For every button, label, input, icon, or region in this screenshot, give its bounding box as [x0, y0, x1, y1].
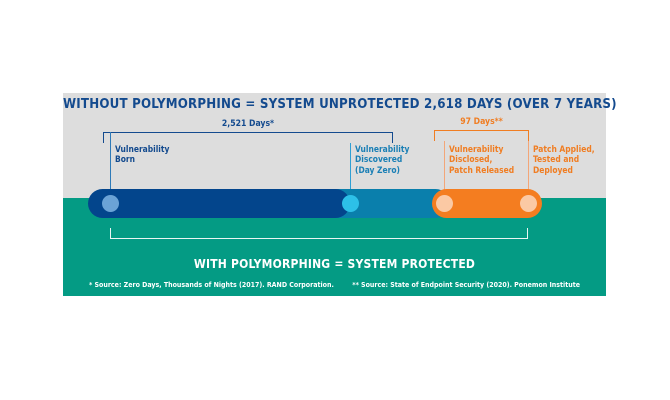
bracket-97-days	[434, 130, 529, 141]
headline-unprotected: WITHOUT POLYMORPHING = SYSTEM UNPROTECTE…	[63, 97, 606, 112]
node-line-3: Patch Released	[449, 165, 514, 175]
milestone-dot-patch-applied	[520, 195, 537, 212]
node-line-3: (Day Zero)	[355, 165, 409, 175]
node-label-vulnerability-discovered: Vulnerability Discovered (Day Zero)	[355, 144, 409, 175]
infographic-canvas: WITHOUT POLYMORPHING = SYSTEM UNPROTECTE…	[0, 0, 670, 400]
milestone-dot-vulnerability-disclosed	[436, 195, 453, 212]
node-line-2: Disclosed,	[449, 154, 514, 164]
bracket-label-97-days: 97 Days**	[434, 117, 529, 127]
source-1: * Source: Zero Days, Thousands of Nights…	[89, 281, 334, 289]
node-label-patch-applied: Patch Applied, Tested and Deployed	[533, 144, 595, 175]
milestone-dot-vulnerability-discovered	[342, 195, 359, 212]
bracket-2521-days	[103, 132, 393, 143]
milestone-dot-vulnerability-born	[102, 195, 119, 212]
bracket-protected-span	[110, 228, 528, 239]
node-label-vulnerability-disclosed: Vulnerability Disclosed, Patch Released	[449, 144, 514, 175]
node-line-2: Born	[115, 154, 169, 164]
node-line-3: Deployed	[533, 165, 595, 175]
source-2: ** Source: State of Endpoint Security (2…	[352, 281, 580, 289]
node-line-1: Vulnerability	[449, 144, 514, 154]
timeline-segment-dark-blue	[88, 189, 350, 218]
node-line-2: Tested and	[533, 154, 595, 164]
node-line-1: Patch Applied,	[533, 144, 595, 154]
bracket-label-2521-days: 2,521 Days*	[103, 119, 393, 129]
node-line-2: Discovered	[355, 154, 409, 164]
node-line-1: Vulnerability	[115, 144, 169, 154]
node-label-vulnerability-born: Vulnerability Born	[115, 144, 169, 165]
sources-footnote: * Source: Zero Days, Thousands of Nights…	[63, 281, 606, 289]
headline-protected: WITH POLYMORPHING = SYSTEM PROTECTED	[63, 257, 606, 271]
node-line-1: Vulnerability	[355, 144, 409, 154]
